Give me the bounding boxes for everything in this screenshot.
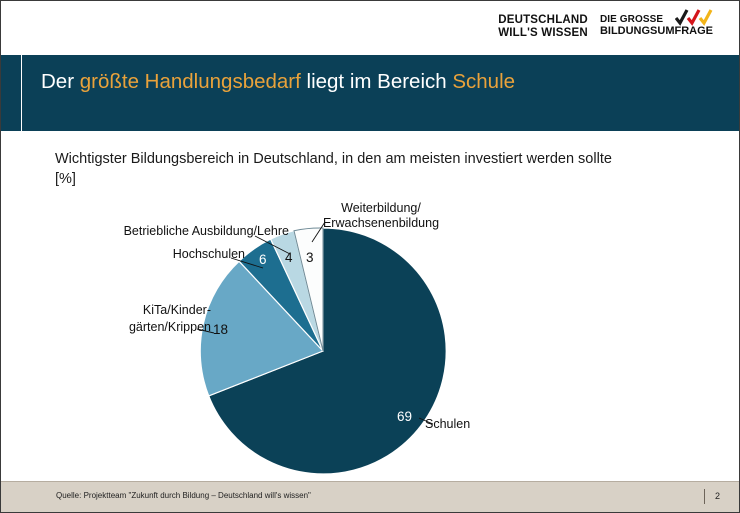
brand-line-1: DEUTSCHLAND [498, 14, 588, 27]
pie-label-weiterbildung-line-1: Weiterbildung/ [291, 201, 471, 216]
pie-value-schulen: 69 [397, 409, 412, 424]
pie-value-hochschulen: 6 [259, 252, 267, 267]
pie-label-weiterbildung: Weiterbildung/ Erwachsenenbildung [291, 201, 471, 231]
survey-wordmark: DIE GROSSE BILDUNGSUMFRAGE [600, 14, 713, 37]
pie-label-kita-line-1: KiTa/Kinder- [129, 302, 211, 319]
pie-chart: Weiterbildung/ Erwachsenenbildung Betrie… [1, 196, 740, 476]
pie-label-weiterbildung-line-2: Erwachsenenbildung [291, 216, 471, 231]
title-vertical-rule [21, 55, 22, 131]
footer-bar: Quelle: Projektteam "Zukunft durch Bildu… [1, 481, 740, 512]
pie-label-schulen: Schulen [425, 417, 470, 432]
chart-subtitle: Wichtigster Bildungsbereich in Deutschla… [55, 149, 723, 189]
page-number: 2 [715, 491, 720, 501]
brand-line-2: WILL'S WISSEN [498, 27, 588, 40]
title-highlight-2: Schule [452, 70, 515, 93]
pie-label-kita: KiTa/Kinder- gärten/Krippen [129, 302, 211, 336]
slide: DEUTSCHLAND WILL'S WISSEN DIE GROSSE BIL… [0, 0, 740, 513]
page-title: Der größte Handlungsbedarf liegt im Bere… [41, 69, 701, 95]
chart-subtitle-line-2: [%] [55, 169, 723, 189]
pie-label-hochschulen: Hochschulen [173, 247, 245, 262]
brand-wordmark: DEUTSCHLAND WILL'S WISSEN [498, 14, 588, 39]
pie-label-betriebliche-ausbildung: Betriebliche Ausbildung/Lehre [124, 224, 289, 239]
pie-value-kita: 18 [213, 322, 228, 337]
page-number-separator [704, 489, 705, 504]
title-part-2: liegt im Bereich [301, 70, 453, 93]
pie-chart-svg [1, 196, 740, 476]
title-highlight-1: größte Handlungsbedarf [80, 70, 301, 93]
source-note: Quelle: Projektteam "Zukunft durch Bildu… [56, 491, 311, 500]
brand-logo: DEUTSCHLAND WILL'S WISSEN DIE GROSSE BIL… [498, 14, 713, 39]
title-part-1: Der [41, 70, 80, 93]
chart-subtitle-line-1: Wichtigster Bildungsbereich in Deutschla… [55, 149, 723, 169]
pie-value-weiterbildung: 3 [306, 250, 314, 265]
pie-value-betriebliche-ausbildung: 4 [285, 250, 293, 265]
checkmarks-icon [675, 9, 717, 26]
pie-label-kita-line-2: gärten/Krippen [129, 319, 211, 336]
survey-line-2: BILDUNGSUMFRAGE [600, 26, 713, 38]
